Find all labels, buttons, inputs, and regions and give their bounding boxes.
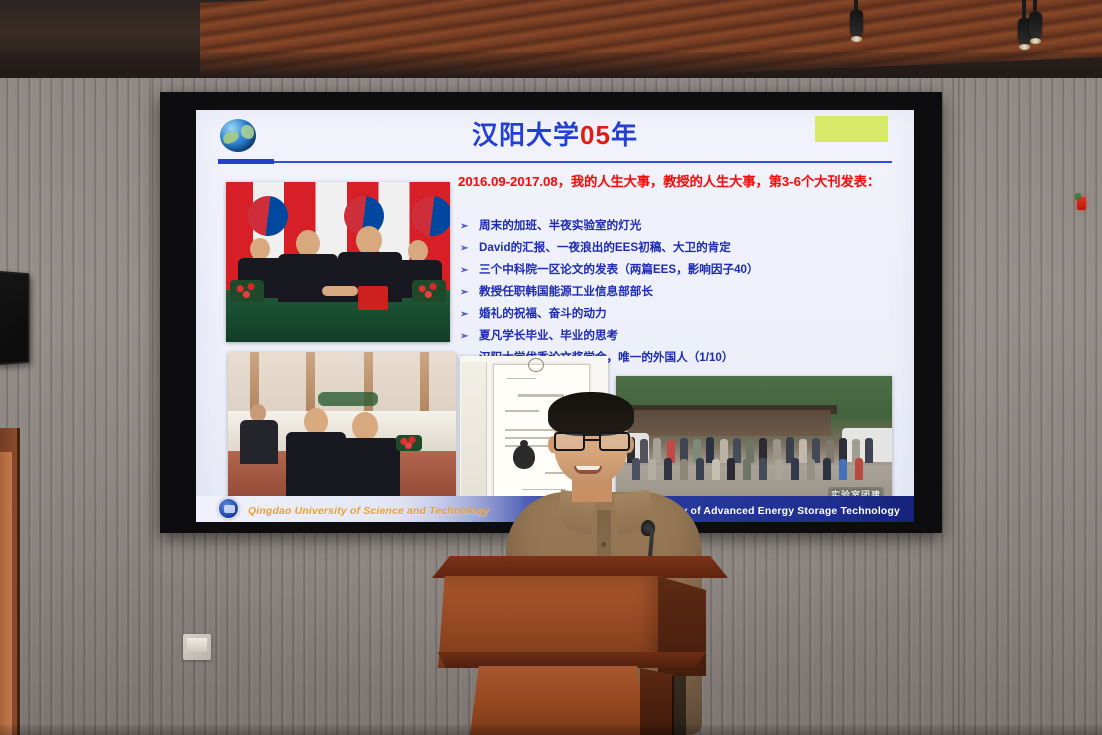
presenter-mouth	[574, 466, 602, 474]
list-item-label: 夏凡学长毕业、毕业的思考	[479, 327, 618, 346]
ceiling-shadow-band	[0, 52, 1102, 78]
list-item-label: 周末的加班、半夜实验室的灯光	[479, 217, 641, 236]
bullet-arrow-icon: ➢	[460, 306, 471, 325]
slide-title-highlight: 05	[580, 120, 611, 150]
ceiling	[0, 0, 1102, 78]
eyeglasses-icon	[554, 432, 630, 451]
track-spotlight-icon	[1029, 0, 1041, 44]
wall-panel-seam-right	[958, 0, 961, 735]
wall-light-switch[interactable]	[183, 634, 211, 660]
lectern-lip	[432, 652, 706, 668]
header-rule-thick	[218, 159, 274, 164]
wall-monitor	[0, 271, 29, 366]
slide-title-prefix: 汉阳大学	[472, 120, 580, 150]
presenter-hair	[548, 392, 634, 436]
list-item-label: 婚礼的祝福、奋斗的动力	[479, 305, 607, 324]
list-item: ➢ 夏凡学长毕业、毕业的思考	[460, 327, 900, 347]
slide-title: 汉阳大学05年	[196, 115, 914, 152]
header-rule-thin	[218, 161, 892, 163]
bullet-arrow-icon: ➢	[460, 262, 471, 281]
list-item-label: 教授任职韩国能源工业信息部部长	[479, 283, 653, 302]
floor-edge	[0, 725, 1102, 735]
presenter-shirt-button	[601, 542, 606, 547]
lectern-top	[432, 556, 728, 578]
bullet-arrow-icon: ➢	[460, 328, 471, 347]
slide-photo-signing-ceremony	[226, 182, 450, 342]
list-item: ➢ 婚礼的祝福、奋斗的动力	[460, 305, 900, 325]
footer-left-label: Qingdao University of Science and Techno…	[248, 506, 489, 517]
red-wall-indicator[interactable]	[1077, 197, 1086, 210]
wall-panel-seam-left	[152, 0, 155, 735]
slide-lead-text: 2016.09-2017.08，我的人生大事，教授的人生大事，第3-6个大刊发表…	[458, 172, 894, 192]
bullet-arrow-icon: ➢	[460, 240, 471, 259]
list-item-label: David的汇报、一夜浪出的EES初稿、大卫的肯定	[479, 239, 731, 258]
bullet-arrow-icon: ➢	[460, 218, 471, 237]
slide-header: 汉阳大学05年	[196, 110, 914, 170]
lecture-hall-scene: 汉阳大学05年 2016.09-2017.08，我的人生大事，教授的人生大事，第…	[0, 0, 1102, 735]
track-spotlight-icon	[850, 0, 862, 42]
list-item: ➢ 周末的加班、半夜实验室的灯光	[460, 217, 900, 237]
slide-title-suffix: 年	[611, 120, 638, 150]
slide-photo-banquet	[228, 352, 456, 507]
list-item: ➢ 三个中科院一区论文的发表（两篇EES，影响因子40）	[460, 261, 900, 281]
lectern	[432, 556, 728, 735]
list-item: ➢ 教授任职韩国能源工业信息部部长	[460, 283, 900, 303]
list-item: ➢ David的汇报、一夜浪出的EES初稿、大卫的肯定	[460, 239, 900, 259]
university-seal-icon	[218, 498, 239, 519]
highlight-note	[815, 116, 888, 142]
footer-right-label: y of Advanced Energy Storage Technology	[681, 506, 900, 517]
bullet-arrow-icon: ➢	[460, 284, 471, 303]
list-item-label: 三个中科院一区论文的发表（两篇EES，影响因子40）	[479, 261, 759, 280]
slide-bullet-list: ➢ 周末的加班、半夜实验室的灯光 ➢ David的汇报、一夜浪出的EES初稿、大…	[460, 217, 900, 371]
side-door[interactable]	[0, 452, 12, 735]
